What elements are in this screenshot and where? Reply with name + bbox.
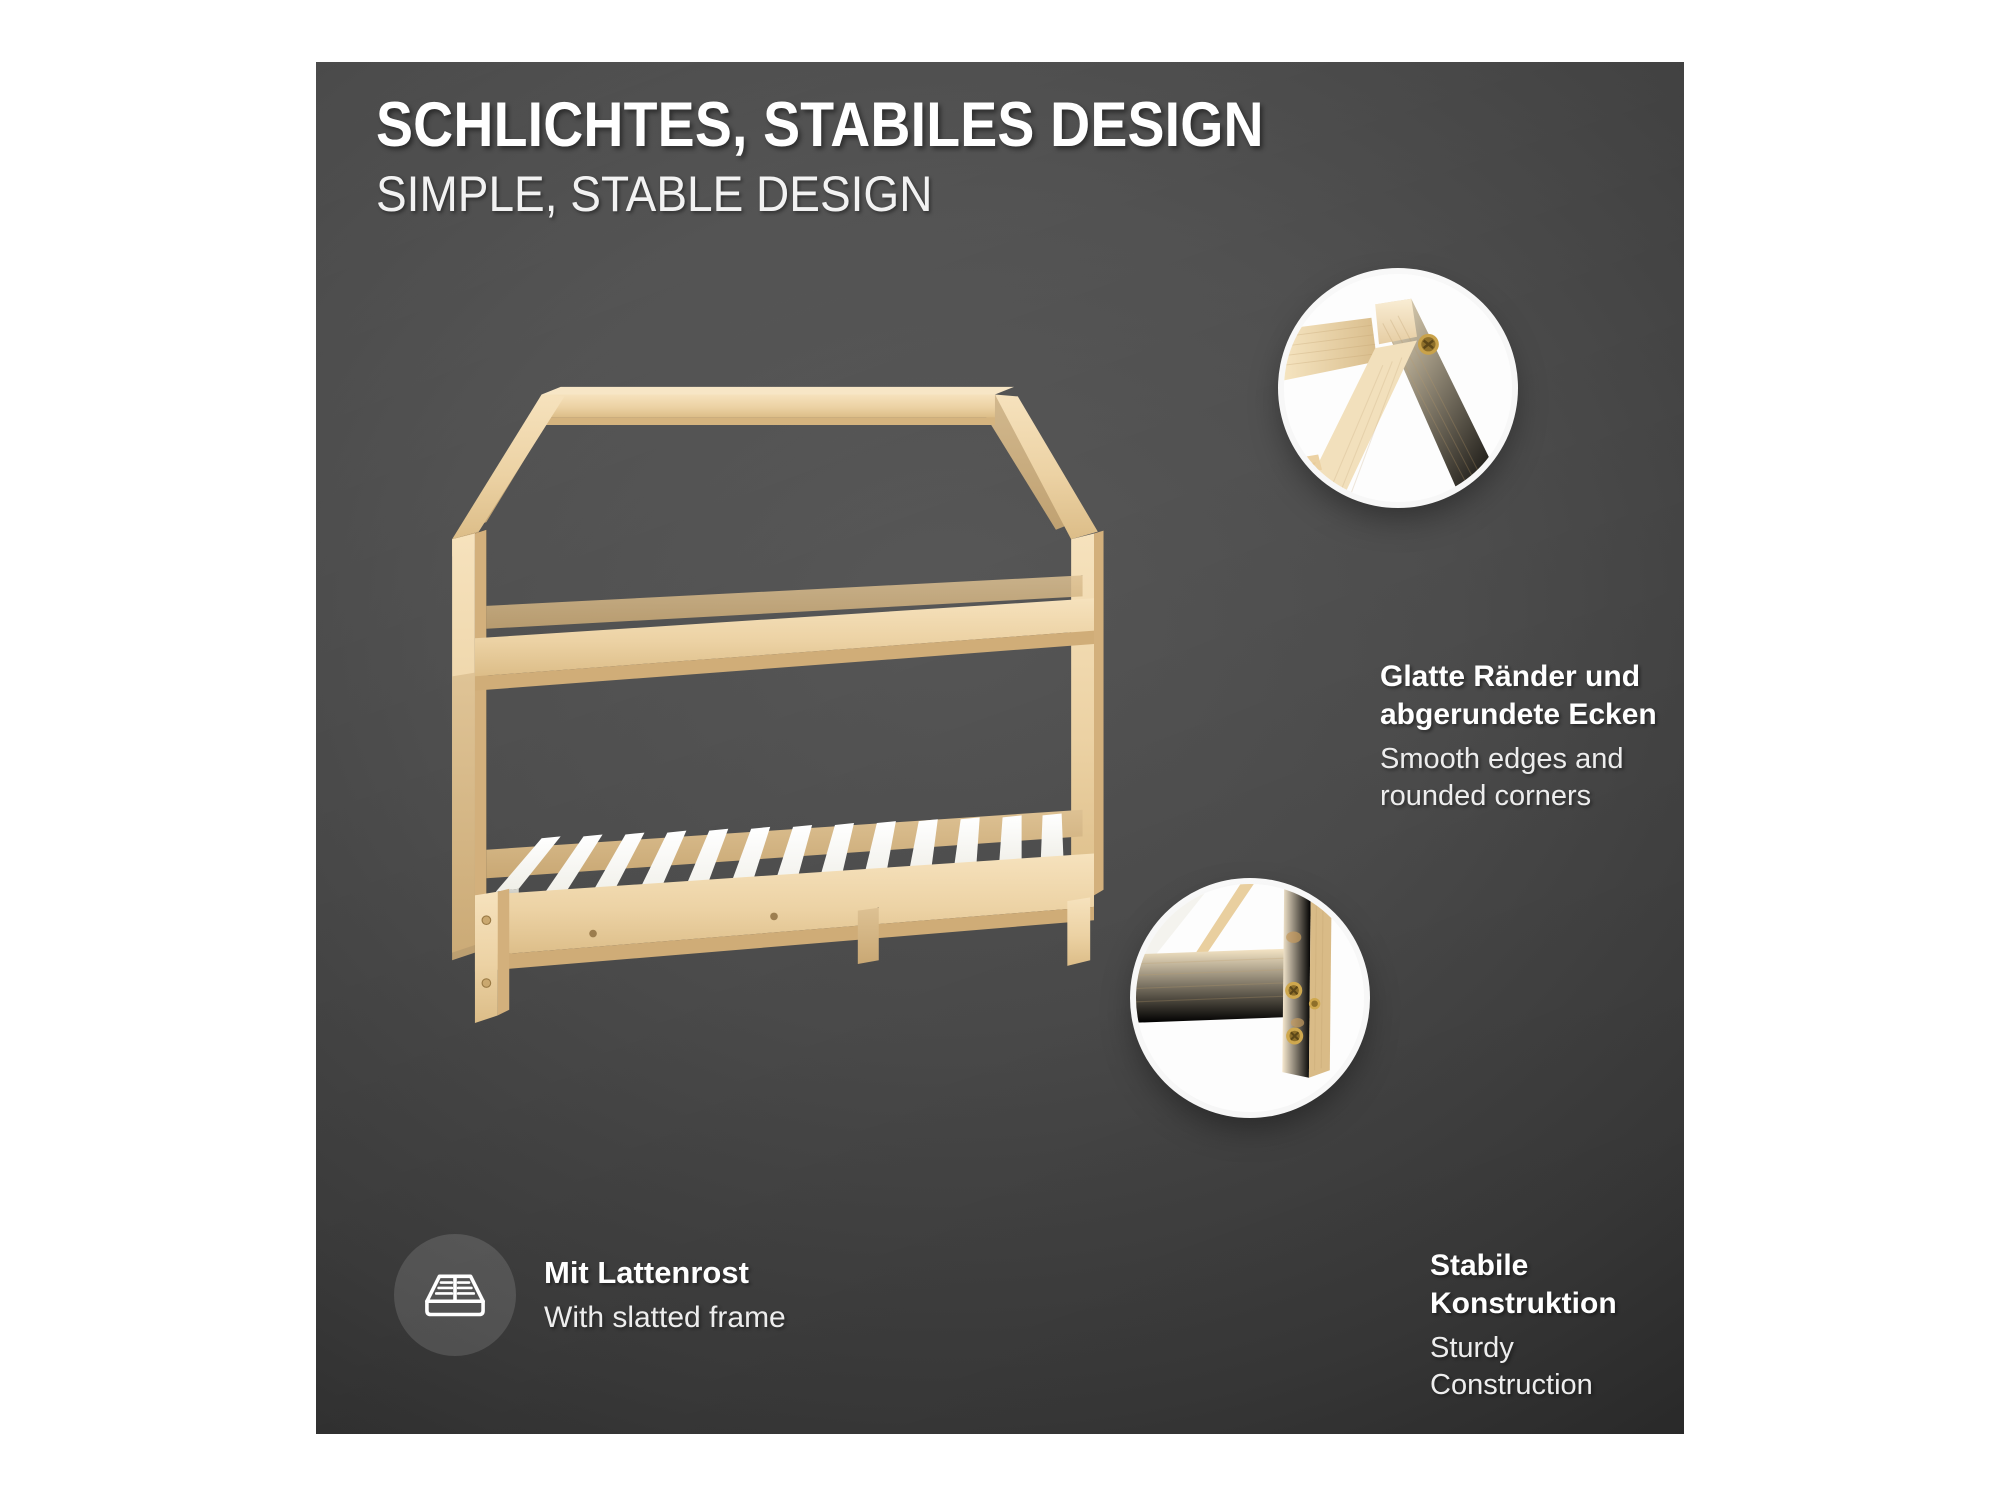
heading-block: SCHLICHTES, STABILES DESIGN SIMPLE, STAB… (376, 94, 1385, 219)
callout-smooth-edges: Glatte Ränder und abgerundete Ecken Smoo… (1380, 658, 1657, 815)
callout-en-line2: rounded corners (1380, 778, 1657, 815)
callout-de-line1: Glatte Ränder und (1380, 658, 1657, 696)
screw (482, 916, 491, 925)
wood-knot (1286, 932, 1301, 943)
feature-badge-slatted-frame: Mit Lattenrost With slatted frame (394, 1234, 786, 1356)
brass-screw (1285, 982, 1302, 999)
inset-roof-apex-joint (1284, 274, 1512, 502)
ridge-beam (542, 387, 1014, 425)
callout-en-line1: Sturdy (1430, 1330, 1617, 1367)
badge-label-de: Mit Lattenrost (544, 1253, 786, 1293)
brass-screw (1309, 998, 1320, 1009)
inset-corner-post-joint (1136, 884, 1364, 1112)
page-title-de: SCHLICHTES, STABILES DESIGN (376, 94, 1264, 157)
brass-screw (1286, 1027, 1303, 1044)
rafter-right (995, 394, 1098, 539)
badge-text-block: Mit Lattenrost With slatted frame (544, 1253, 786, 1337)
callout-de-line2: abgerundete Ecken (1380, 696, 1657, 734)
callout-de-line2: Konstruktion (1430, 1285, 1617, 1323)
badge-icon-circle (394, 1234, 516, 1356)
rafter-left (452, 394, 564, 556)
screw (482, 979, 491, 988)
slatted-frame-icon (416, 1256, 494, 1334)
end-panel-left (452, 673, 475, 961)
callout-en-line2: Construction (1430, 1367, 1617, 1404)
callout-de-line1: Stabile (1430, 1247, 1617, 1285)
screw-hole (770, 913, 778, 921)
dark-product-panel: SCHLICHTES, STABILES DESIGN SIMPLE, STAB… (316, 62, 1684, 1434)
callout-sturdy-construction: Stabile Konstruktion Sturdy Construction (1430, 1247, 1617, 1404)
wood-knot (1291, 1018, 1304, 1027)
beam-end-face (1375, 299, 1417, 345)
page-title-en: SIMPLE, STABLE DESIGN (376, 169, 1304, 219)
badge-label-en: With slatted frame (544, 1298, 786, 1337)
leg-mid (858, 908, 879, 964)
leg-front-left (475, 889, 509, 1023)
product-marketing-image: SCHLICHTES, STABILES DESIGN SIMPLE, STAB… (0, 0, 2000, 1500)
product-photo-house-bed (374, 362, 1174, 1086)
callout-en-line1: Smooth edges and (1380, 741, 1657, 778)
corner-post-crop (1282, 884, 1311, 1078)
screw-hole (589, 930, 597, 938)
leg-front-right (1067, 897, 1090, 966)
